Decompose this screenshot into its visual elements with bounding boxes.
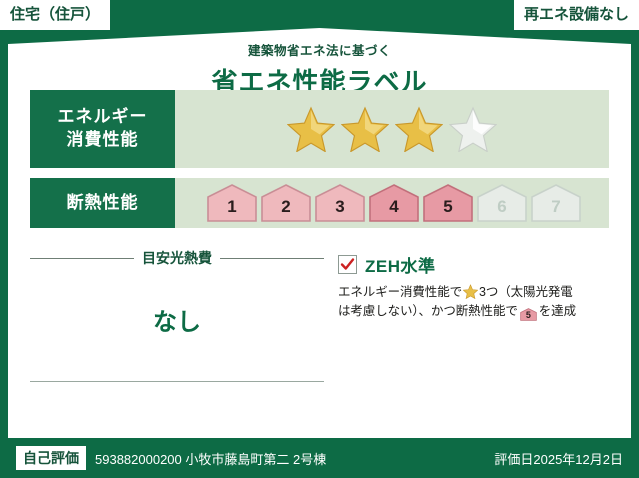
house-icon-5: 5 bbox=[422, 184, 474, 222]
house-label-3: 3 bbox=[335, 197, 344, 222]
insulation-performance-key: 断熱性能 bbox=[30, 178, 175, 228]
footer-bar: 自己評価 593882000200 小牧市藤島町第二 2号棟 評価日2025年1… bbox=[0, 438, 639, 478]
utility-cost-legend: 目安光熱費 bbox=[30, 248, 324, 268]
house-icon-4: 4 bbox=[368, 184, 420, 222]
house-label-5: 5 bbox=[443, 197, 452, 222]
inline-star-icon bbox=[463, 284, 478, 299]
zeh-section: ZEH水準 エネルギー消費性能で3つ（太陽光発電は考慮しない）、かつ断熱性能で5… bbox=[330, 242, 609, 382]
star-icon-4-empty bbox=[449, 106, 497, 152]
house-icon-6-empty: 6 bbox=[476, 184, 528, 222]
house-label-2: 2 bbox=[281, 197, 290, 222]
house-label-7: 7 bbox=[551, 197, 560, 222]
house-label-1: 1 bbox=[227, 197, 236, 222]
star-rating bbox=[287, 106, 497, 152]
house-label-6: 6 bbox=[497, 197, 506, 222]
tag-building-type: 住宅（住戸） bbox=[0, 0, 110, 30]
label-card: エネルギー 消費性能 bbox=[16, 90, 623, 430]
utility-cost-legend-label: 目安光熱費 bbox=[142, 248, 212, 268]
tag-renewable-equipment: 再エネ設備なし bbox=[514, 0, 639, 30]
zeh-description: エネルギー消費性能で3つ（太陽光発電は考慮しない）、かつ断熱性能で5を達成 bbox=[338, 283, 609, 322]
house-icon-2: 2 bbox=[260, 184, 312, 222]
house-icon-3: 3 bbox=[314, 184, 366, 222]
lower-section: 目安光熱費 なし ZEH水準 エネルギー消費性能で3つ（太陽光発電は考慮しない）… bbox=[30, 242, 609, 382]
house-rating: 1 2 3 4 bbox=[202, 184, 582, 222]
zeh-checkbox[interactable] bbox=[338, 255, 357, 274]
energy-key-line1: エネルギー bbox=[58, 106, 148, 129]
zeh-desc-part1: エネルギー消費性能で bbox=[338, 285, 462, 299]
footer-identifier: 593882000200 小牧市藤島町第二 2号棟 bbox=[95, 449, 326, 468]
star-icon-3 bbox=[395, 106, 443, 152]
zeh-desc-part3: を達成 bbox=[539, 304, 576, 318]
house-icon-1: 1 bbox=[206, 184, 258, 222]
star-icon-2 bbox=[341, 106, 389, 152]
utility-cost-value: なし bbox=[30, 302, 324, 337]
energy-performance-value bbox=[175, 90, 609, 168]
title-subtitle: 建築物省エネ法に基づく bbox=[0, 40, 639, 59]
utility-cost-divider bbox=[30, 381, 324, 382]
star-icon-1 bbox=[287, 106, 335, 152]
inline-house-badge: 5 bbox=[520, 307, 537, 321]
utility-cost-section: 目安光熱費 なし bbox=[30, 242, 330, 382]
energy-performance-row: エネルギー 消費性能 bbox=[30, 90, 609, 168]
energy-key-line2: 消費性能 bbox=[67, 129, 139, 152]
zeh-desc-star-count: 3つ（太陽光発電 bbox=[479, 285, 573, 299]
energy-performance-label: 住宅（住戸） 再エネ設備なし 建築物省エネ法に基づく 省エネ性能ラベル エネルギ… bbox=[0, 0, 639, 478]
inline-house-label: 5 bbox=[520, 307, 537, 323]
evaluation-date: 評価日2025年12月2日 bbox=[494, 449, 623, 468]
insulation-performance-value: 1 2 3 4 bbox=[175, 178, 609, 228]
house-label-4: 4 bbox=[389, 197, 398, 222]
house-icon-7-empty: 7 bbox=[530, 184, 582, 222]
insulation-performance-row: 断熱性能 1 2 3 bbox=[30, 178, 609, 228]
zeh-desc-part2: は考慮しない）、かつ断熱性能で bbox=[338, 304, 518, 318]
check-icon bbox=[340, 257, 355, 272]
zeh-header: ZEH水準 bbox=[338, 252, 609, 277]
evaluation-type-badge: 自己評価 bbox=[16, 446, 86, 470]
insulation-key-label: 断熱性能 bbox=[67, 192, 139, 215]
energy-performance-key: エネルギー 消費性能 bbox=[30, 90, 175, 168]
zeh-title: ZEH水準 bbox=[365, 252, 436, 277]
